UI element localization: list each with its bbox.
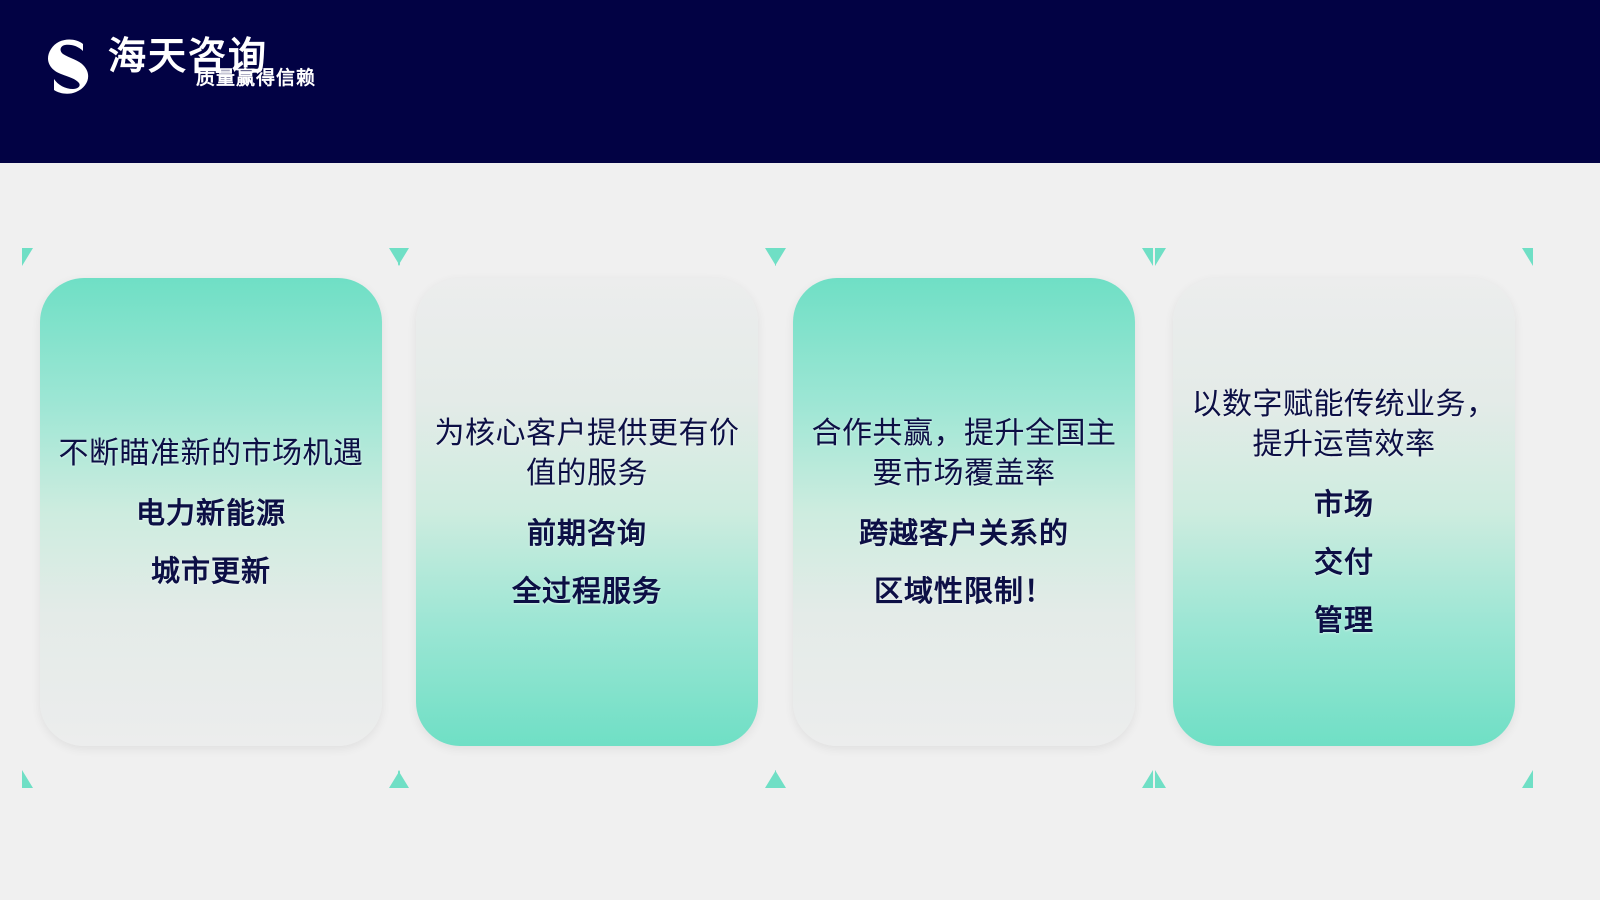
card-core-client-value[interactable]: 为核心客户提供更有价值的服务 前期咨询 全过程服务 — [416, 278, 758, 746]
card-body: 以数字赋能传统业务，提升运营效率 市场 交付 管理 — [1191, 385, 1497, 639]
corner-bracket-top-left-icon — [22, 248, 33, 266]
corner-bracket-bottom-left-icon — [1155, 770, 1166, 788]
card-keyword: 交付 — [1191, 545, 1497, 581]
cards-container: 不断瞄准新的市场机遇 电力新能源 城市更新 为核心客户提供更有价值的服务 前期咨… — [0, 163, 1600, 900]
corner-bracket-bottom-right-icon — [1142, 770, 1153, 788]
card-keyword: 市场 — [1191, 487, 1497, 523]
corner-bracket-bottom-right-icon — [1522, 770, 1533, 788]
card-slot-3: 合作共赢，提升全国主要市场覆盖率 跨越客户关系的 区域性限制！ — [775, 248, 1153, 788]
card-keyword: 城市更新 — [58, 554, 364, 590]
card-keyword: 电力新能源 — [58, 496, 364, 532]
card-lead-text: 不断瞄准新的市场机遇 — [58, 434, 364, 474]
corner-bracket-bottom-left-icon — [22, 770, 33, 788]
corner-bracket-top-left-icon — [775, 248, 786, 266]
card-lead-text: 以数字赋能传统业务，提升运营效率 — [1191, 385, 1497, 465]
corner-bracket-top-left-icon — [398, 248, 409, 266]
card-keyword: 管理 — [1191, 603, 1497, 639]
card-lead-text: 合作共赢，提升全国主要市场覆盖率 — [811, 414, 1117, 494]
card-keyword: 全过程服务 — [434, 574, 740, 610]
card-slot-2: 为核心客户提供更有价值的服务 前期咨询 全过程服务 — [398, 248, 776, 788]
corner-bracket-bottom-left-icon — [775, 770, 786, 788]
card-body: 合作共赢，提升全国主要市场覆盖率 跨越客户关系的 区域性限制！ — [811, 414, 1117, 610]
card-keyword: 区域性限制！ — [811, 574, 1117, 610]
card-market-opportunity[interactable]: 不断瞄准新的市场机遇 电力新能源 城市更新 — [40, 278, 382, 746]
company-tagline: 质量赢得信赖 — [196, 68, 316, 90]
company-logo: 海天咨询 质量赢得信赖 — [38, 28, 108, 98]
card-nationwide-coverage[interactable]: 合作共赢，提升全国主要市场覆盖率 跨越客户关系的 区域性限制！ — [793, 278, 1135, 746]
card-body: 为核心客户提供更有价值的服务 前期咨询 全过程服务 — [434, 414, 740, 610]
corner-bracket-top-left-icon — [1155, 248, 1166, 266]
card-keyword: 前期咨询 — [434, 516, 740, 552]
card-keyword: 跨越客户关系的 — [811, 516, 1117, 552]
card-lead-text: 为核心客户提供更有价值的服务 — [434, 414, 740, 494]
card-digital-enablement[interactable]: 以数字赋能传统业务，提升运营效率 市场 交付 管理 — [1173, 278, 1515, 746]
corner-bracket-top-right-icon — [1522, 248, 1533, 266]
stylized-s-logomark-icon — [38, 32, 100, 94]
corner-bracket-top-right-icon — [1142, 248, 1153, 266]
card-slot-4: 以数字赋能传统业务，提升运营效率 市场 交付 管理 — [1155, 248, 1533, 788]
corner-bracket-bottom-left-icon — [398, 770, 409, 788]
header-bar: 海天咨询 质量赢得信赖 — [0, 0, 1600, 163]
card-body: 不断瞄准新的市场机遇 电力新能源 城市更新 — [58, 434, 364, 590]
card-slot-1: 不断瞄准新的市场机遇 电力新能源 城市更新 — [22, 248, 400, 788]
